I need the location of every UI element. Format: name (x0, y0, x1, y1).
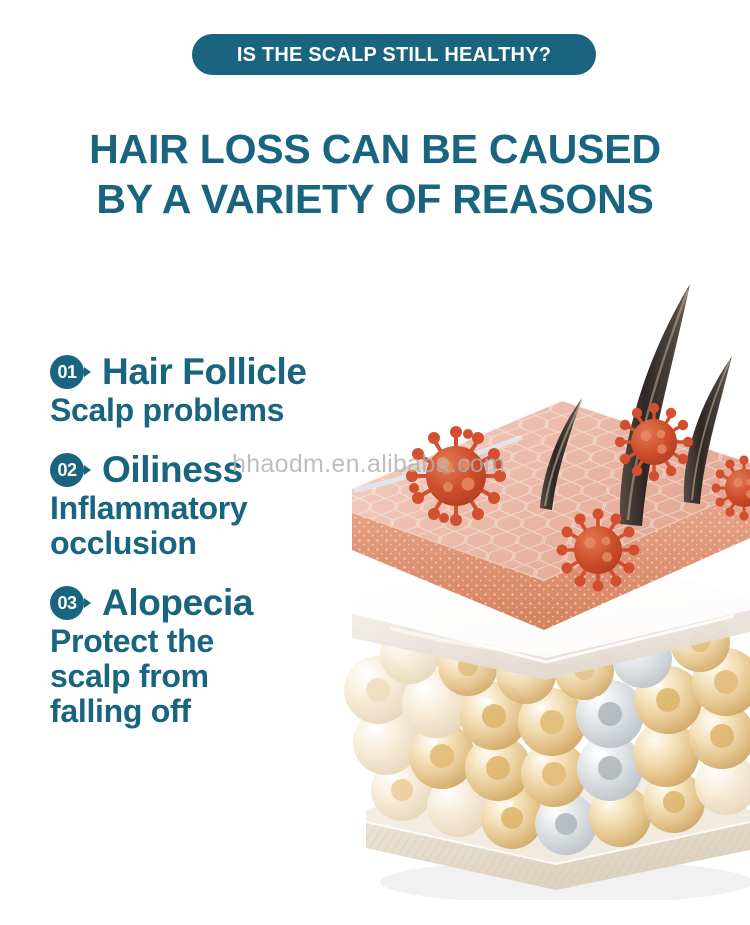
page-title-line-1: HAIR LOSS CAN BE CAUSED (0, 124, 750, 174)
reason-item-01: 01 Hair Follicle Scalp problems (50, 352, 380, 428)
reason-subtitle-02: Inflammatory occlusion (50, 491, 380, 561)
reason-subtitle-03-line-3: falling off (50, 694, 380, 729)
reason-title-03: Alopecia (102, 583, 253, 623)
reason-subtitle-03-line-1: Protect the (50, 624, 380, 659)
number-badge-01: 01 (50, 355, 91, 389)
reason-item-03: 03 Alopecia Protect the scalp from falli… (50, 583, 380, 729)
watermark-text: hhaodm.en.alibaba.com (232, 450, 505, 479)
number-badge-02-label: 02 (50, 453, 84, 487)
number-badge-03: 03 (50, 586, 91, 620)
reason-title-01: Hair Follicle (102, 352, 307, 392)
eyebrow-banner: IS THE SCALP STILL HEALTHY? (192, 34, 596, 75)
number-badge-01-label: 01 (50, 355, 84, 389)
reason-subtitle-01-line-1: Scalp problems (50, 393, 380, 428)
reason-subtitle-03-line-2: scalp from (50, 659, 380, 694)
reason-title-02: Oiliness (102, 450, 243, 490)
reasons-list: 01 Hair Follicle Scalp problems 02 Oilin… (50, 352, 380, 751)
reason-head-03: 03 Alopecia (50, 583, 380, 623)
page-title-line-2: BY A VARIETY OF REASONS (0, 174, 750, 224)
reason-subtitle-01: Scalp problems (50, 393, 380, 428)
reason-subtitle-03: Protect the scalp from falling off (50, 624, 380, 729)
number-badge-03-label: 03 (50, 586, 84, 620)
reason-subtitle-02-line-1: Inflammatory (50, 491, 380, 526)
reason-subtitle-02-line-2: occlusion (50, 526, 380, 561)
scalp-cross-section-illustration (330, 250, 750, 900)
eyebrow-banner-text: IS THE SCALP STILL HEALTHY? (237, 45, 551, 65)
reason-head-01: 01 Hair Follicle (50, 352, 380, 392)
page-title: HAIR LOSS CAN BE CAUSED BY A VARIETY OF … (0, 124, 750, 224)
number-badge-02: 02 (50, 453, 91, 487)
